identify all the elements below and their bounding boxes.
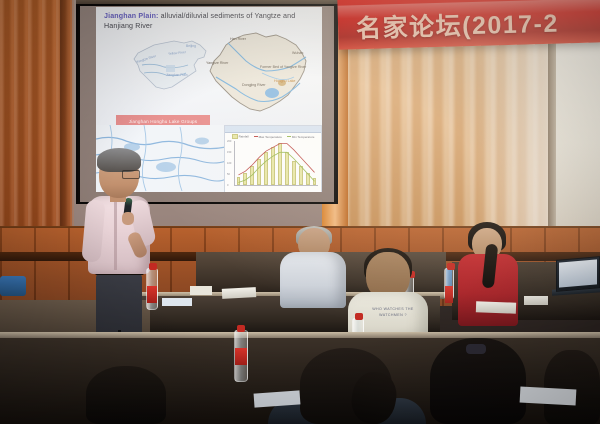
left-curtain-fold — [60, 0, 74, 232]
region-label-dongjing-river: Dongjing River — [242, 83, 266, 87]
region-label-wuhan: Wuhan — [292, 51, 303, 55]
paper-sheet — [476, 301, 516, 313]
hair-clip — [466, 344, 486, 354]
chart-y-tick: 100 — [227, 162, 231, 165]
bottle-label — [445, 286, 453, 303]
chart-plot-area: 0501001502000102030 — [234, 141, 318, 186]
chart-y-tick: 50 — [227, 173, 230, 176]
foreground-attendee-dark — [544, 350, 600, 424]
chart-y-tick: 0 — [227, 184, 228, 187]
speaker-shirt-placket — [114, 198, 117, 270]
bottle-label — [235, 348, 247, 365]
china-map-label-jianghan: Jianghan Plain — [166, 73, 188, 77]
chair-back — [0, 276, 26, 296]
bottle-cap — [149, 263, 157, 270]
legend-item-max-temp: Max Temperature — [254, 135, 282, 139]
chart-header-bar — [225, 126, 321, 133]
laptop-screen — [559, 259, 597, 287]
slide-title-highlight: Jianghan Plain: — [104, 12, 159, 20]
china-overview-map: Yangtze River Yellow River Jianghan Plai… — [128, 35, 212, 97]
chart-y-tick: 150 — [227, 151, 231, 154]
speaker-hair — [97, 148, 141, 172]
chart-temperature-lines — [235, 141, 318, 185]
legend-item-min-temp: Min Temperature — [287, 135, 314, 139]
speaker-glasses — [122, 170, 140, 179]
bottle-label — [147, 286, 157, 303]
climate-chart: Rainfall Max Temperature Min Temperature… — [224, 125, 322, 192]
legend-item-rainfall: Rainfall — [232, 134, 249, 139]
banner-text: 名家论坛(2017-2 — [356, 4, 560, 46]
chart-y-tick: 200 — [227, 140, 231, 143]
slide-banner-label: Jianghan Honghu Lake Groups — [129, 119, 198, 124]
bottle-cap — [355, 313, 363, 320]
lecture-hall-photo: Jianghan Plain: alluvial/diluvial sedime… — [0, 0, 600, 424]
paper-sheet — [190, 286, 212, 295]
region-label-yangtze-river: Yangtze River — [206, 61, 228, 65]
jianghan-plain-map: Han River Yangtze River Dongjing River F… — [204, 27, 312, 119]
region-label-honghu-lake: Honghu Lake — [274, 79, 295, 83]
foreground-attendee-dark — [86, 366, 166, 424]
event-red-banner: 名家论坛(2017-2 — [337, 0, 600, 50]
paper-sheet — [520, 387, 577, 406]
region-label-former-bed: Former Bed of Yangtze River — [260, 65, 306, 69]
paper-sheet — [222, 287, 256, 299]
audience-grey-hair-white-shirt — [280, 252, 346, 308]
bottle-cap — [237, 325, 245, 332]
water-bottle — [234, 330, 248, 382]
paper-sheet — [162, 298, 192, 306]
speaker-hand — [122, 212, 134, 225]
paper-sheet — [524, 296, 548, 305]
chart-legend: Rainfall Max Temperature Min Temperature — [225, 133, 321, 140]
water-bottle — [146, 268, 158, 310]
water-bottle — [444, 268, 454, 300]
window-sunlight-glow — [470, 20, 556, 238]
china-map-label-beijing: Beijing — [186, 44, 196, 48]
bottle-cap — [447, 263, 455, 270]
region-label-han-river: Han River — [230, 37, 246, 41]
